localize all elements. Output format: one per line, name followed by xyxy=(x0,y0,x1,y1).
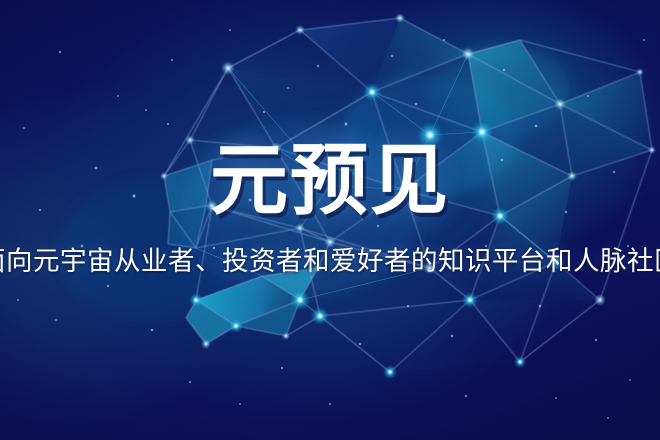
banner-title-text: 元预见 xyxy=(210,141,450,219)
hero-banner: 元预见 面向元宇宙从业者、投资者和爱好者的知识平台和人脉社区 xyxy=(0,0,660,440)
banner-subtitle: 面向元宇宙从业者、投资者和爱好者的知识平台和人脉社区 xyxy=(0,243,660,279)
banner-title: 元预见 xyxy=(0,134,660,226)
banner-subtitle-text: 面向元宇宙从业者、投资者和爱好者的知识平台和人脉社区 xyxy=(0,248,660,275)
